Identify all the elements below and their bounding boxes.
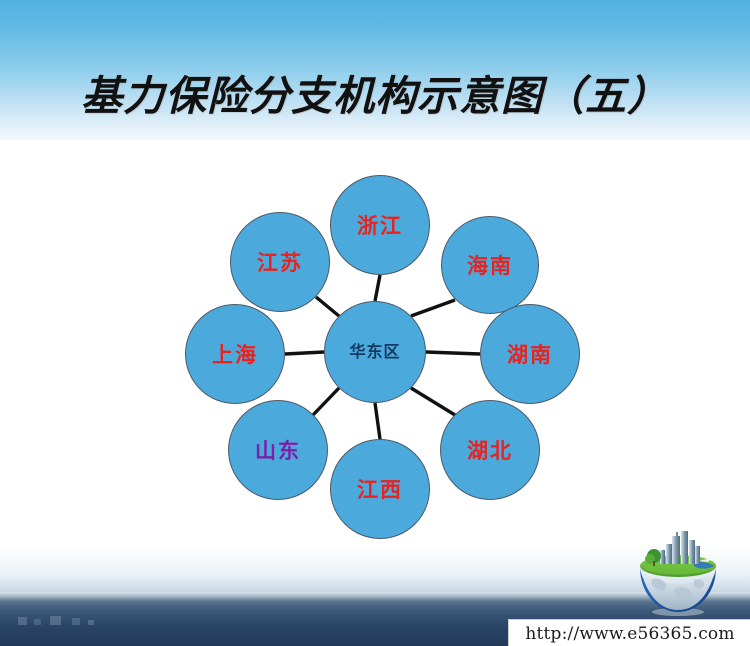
diagram-node-zhejiang-label: 浙江	[357, 215, 403, 236]
diagram-node-hubei-label: 湖北	[467, 440, 513, 461]
diagram-node-zhejiang[interactable]: 浙江	[330, 175, 430, 275]
diagram-node-hunan[interactable]: 湖南	[480, 304, 580, 404]
diagram-node-shanghai-label: 上海	[212, 344, 258, 365]
diagram-node-jiangsu[interactable]: 江苏	[230, 212, 330, 312]
diagram-node-hubei[interactable]: 湖北	[440, 400, 540, 500]
diagram-node-hainan[interactable]: 海南	[441, 216, 539, 314]
diagram-node-jiangxi-label: 江西	[357, 479, 403, 500]
diagram-node-hainan-label: 海南	[467, 255, 513, 276]
diagram-node-hunan-label: 湖南	[507, 344, 553, 365]
watermark-box: http://www.e56365.com	[508, 619, 750, 646]
diagram-node-jiangxi[interactable]: 江西	[330, 439, 430, 539]
diagram-node-jiangsu-label: 江苏	[257, 252, 303, 273]
diagram-node-shandong-label: 山东	[255, 440, 301, 461]
diagram-node-shandong[interactable]: 山东	[228, 400, 328, 500]
slide-canvas: 基力保险分支机构示意图（五） 华东区 浙江 海南 湖南	[0, 0, 750, 646]
diagram-node-shanghai[interactable]: 上海	[185, 304, 285, 404]
globe-city-logo	[632, 528, 724, 616]
page-title: 基力保险分支机构示意图（五）	[0, 62, 750, 122]
org-structure-diagram: 华东区 浙江 海南 湖南 湖北 江西 山东 上海 江苏	[170, 162, 580, 542]
diagram-node-hub[interactable]: 华东区	[324, 301, 426, 403]
shoreline-specks-icon	[14, 614, 184, 628]
diagram-node-hub-label: 华东区	[349, 344, 400, 360]
watermark-url: http://www.e56365.com	[525, 624, 734, 644]
